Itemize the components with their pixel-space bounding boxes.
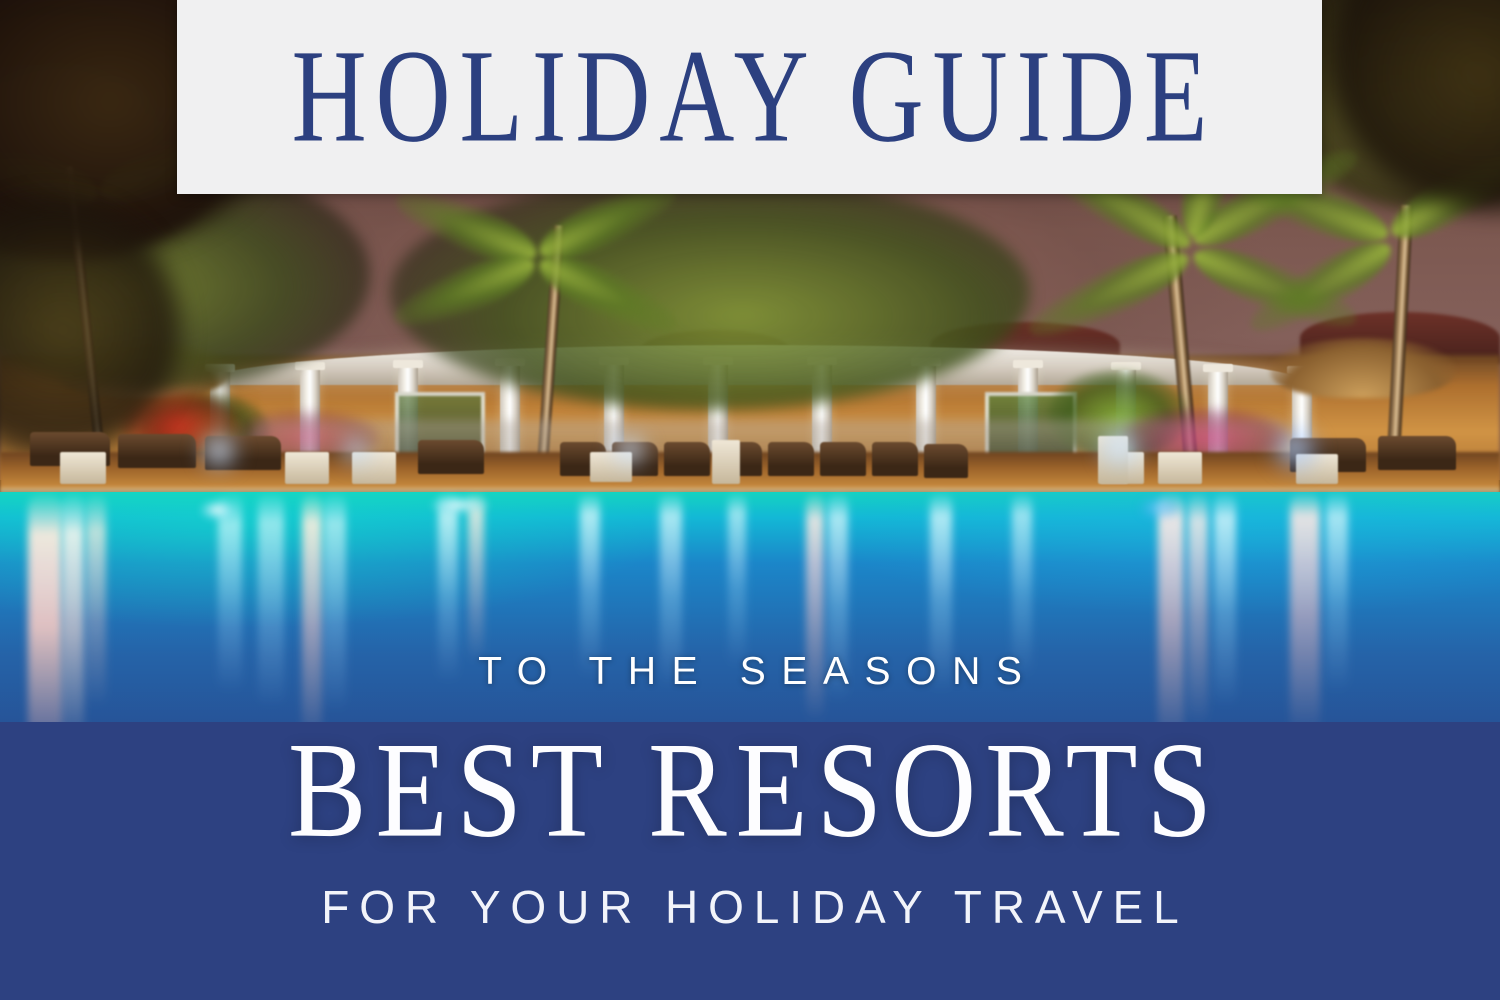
planter-box-2 [285,452,329,484]
kicker-text: TO THE SEASONS [0,650,1500,694]
uplight-4 [1268,424,1322,474]
lounger-14 [1378,436,1456,470]
planter-tall-center [712,440,740,484]
pool-light-left [200,500,234,520]
reflection-orange-mid [302,492,322,747]
pool-light-right [1140,498,1180,518]
chair-9 [768,442,814,476]
reflection-white-7 [728,492,746,667]
thatch-umbrella-right [1270,338,1455,398]
header-panel: HOLIDAY GUIDE [177,0,1322,194]
lounger-2 [118,434,196,468]
header-title: HOLIDAY GUIDE [283,30,1217,163]
uplight-3 [1096,424,1144,472]
reflection-gold-left-2 [62,492,84,747]
chair-12 [924,444,968,478]
reflection-orange-2 [468,492,484,662]
chair-7 [664,442,710,476]
reflection-orange-6 [1290,492,1320,737]
poster-canvas: HOLIDAY GUIDE TO THE SEASONS BEST RESORT… [0,0,1500,1000]
chair-11 [872,442,918,476]
planter-box-1 [60,452,106,484]
uplight-5 [336,430,376,470]
uplight-2 [608,428,652,472]
main-title: BEST RESORTS [0,722,1500,859]
planter-box-6 [1158,452,1202,484]
chair-10 [820,442,866,476]
uplight-1 [196,428,242,474]
pool-light-center [430,496,490,514]
lounger-4 [418,440,484,474]
sub-title: FOR YOUR HOLIDAY TRAVEL [0,880,1500,934]
